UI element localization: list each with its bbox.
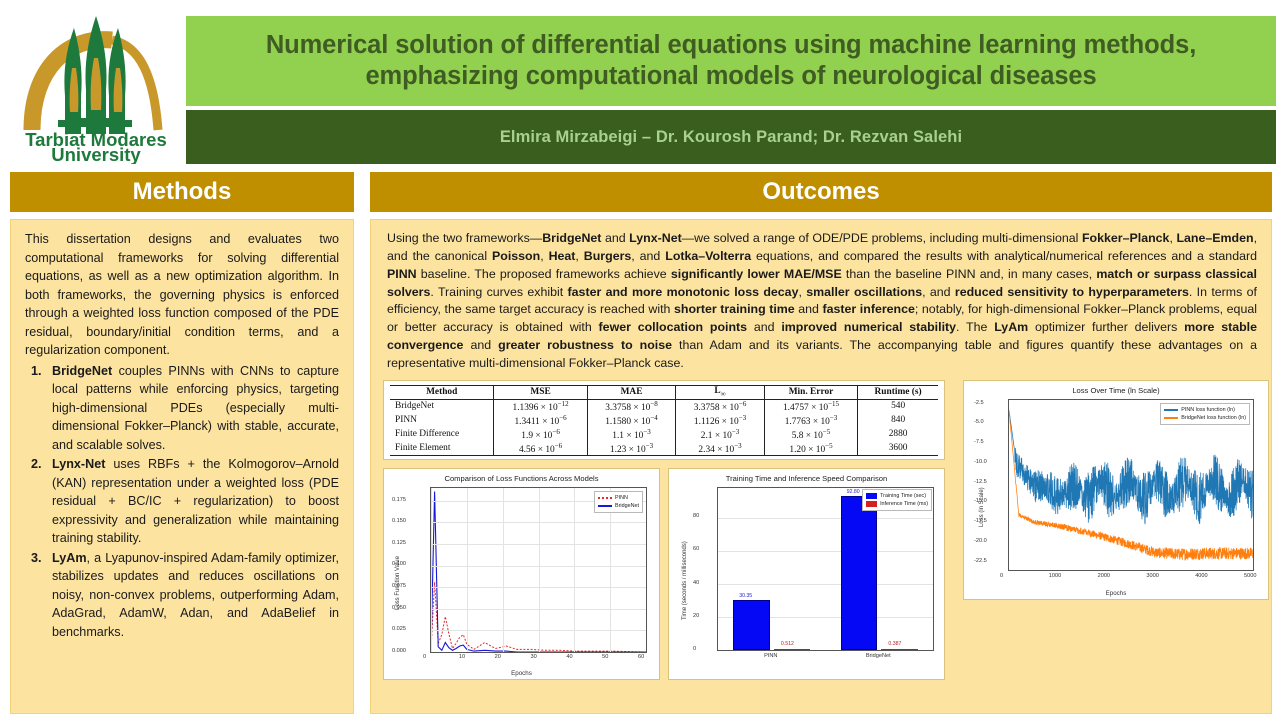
xtick-label: 40 (566, 654, 572, 660)
table-cell-minerr: 1.4757 × 10−15 (764, 399, 857, 413)
outcomes-text: and (463, 338, 498, 352)
outcomes-text: equations, and compared the results with… (751, 249, 1257, 263)
table-cell-runtime: 3600 (858, 441, 938, 455)
gridline (431, 652, 646, 653)
xtick-label: 4000 (1195, 573, 1207, 579)
outcomes-text: —we solved a range of ODE/PDE problems, … (682, 231, 1082, 245)
table-cell-mae: 1.1 × 10−3 (587, 427, 676, 441)
bar-category-label: BridgeNet (856, 653, 900, 659)
table-cell-mae: 1.1580 × 10−4 (587, 413, 676, 427)
gridline (718, 650, 933, 651)
xtick-label: 20 (495, 654, 501, 660)
ytick-label: -5.0 (974, 419, 984, 425)
methods-list-item: Lynx-Net uses RBFs + the Kolmogorov–Arno… (25, 455, 339, 548)
bar-value-label: 0.387 (888, 641, 901, 647)
outcomes-section-header: Outcomes (370, 172, 1272, 212)
methods-item-lead: BridgeNet (52, 364, 112, 378)
ytick-label: -7.5 (974, 439, 984, 445)
xtick-label: 5000 (1244, 573, 1256, 579)
outcomes-text: , and (922, 285, 955, 299)
outcomes-panel: Using the two frameworks—BridgeNet and L… (370, 219, 1272, 714)
gridline (431, 488, 432, 652)
outcomes-text: , (575, 249, 583, 263)
table-col-header: Min. Error (764, 385, 857, 399)
table-col-header: Runtime (s) (858, 385, 938, 399)
bar-training-time (841, 496, 878, 649)
table-cell-mse: 1.1396 × 10−12 (494, 399, 587, 413)
university-logo: Tarbiat Modares University (8, 6, 184, 164)
gridline (467, 488, 468, 652)
ytick-label: -15.0 (974, 498, 987, 504)
outcomes-text: , (540, 249, 548, 263)
loss-compare-xlabel: Epochs (384, 670, 659, 677)
table-col-header: L∞ (676, 385, 765, 399)
ytick-label: 0.175 (392, 497, 406, 503)
ytick-label: 0.000 (392, 648, 406, 654)
outcomes-text: . The (956, 320, 994, 334)
xtick-label: 10 (459, 654, 465, 660)
outcomes-emphasis: faster inference (823, 302, 915, 316)
table-cell-mse: 1.3411 × 10−6 (494, 413, 587, 427)
gridline (718, 584, 933, 585)
loss-over-time-chart: Loss Over Time (ln Scale) Loss (in Scale… (963, 380, 1269, 600)
ytick-label: -20.0 (974, 538, 987, 544)
poster-root: Tarbiat Modares University Numerical sol… (0, 0, 1280, 720)
bars-ylabel: Time (seconds / milliseconds) (682, 520, 688, 620)
ytick-label: 0.075 (392, 583, 406, 589)
table-cell-mse: 1.9 × 10−6 (494, 427, 587, 441)
ytick-label: 0.150 (392, 518, 406, 524)
table-row: Finite Element4.56 × 10−61.23 × 10−32.34… (390, 441, 938, 455)
outcomes-emphasis: greater robustness to noise (498, 338, 672, 352)
xtick-label: 0 (1000, 573, 1003, 579)
table-cell-method: Finite Difference (390, 427, 494, 441)
results-table-figure: MethodMSEMAEL∞Min. ErrorRuntime (s) Brid… (383, 380, 945, 460)
ytick-label: 0.100 (392, 561, 406, 567)
ytick-label: -22.5 (974, 558, 987, 564)
table-cell-runtime: 540 (858, 399, 938, 413)
legend-label-bridgenet: BridgeNet (615, 502, 639, 510)
table-cell-mae: 1.23 × 10−3 (587, 441, 676, 455)
poster-authors-bar: Elmira Mirzabeigi – Dr. Kourosh Parand; … (186, 110, 1276, 164)
ytick-label: -10.0 (974, 459, 987, 465)
loss-compare-title: Comparison of Loss Functions Across Mode… (384, 474, 659, 483)
table-cell-method: PINN (390, 413, 494, 427)
table-cell-linf: 1.1126 × 10−3 (676, 413, 765, 427)
bars-legend: Training Time (sec) Inference Time (ms) (862, 489, 932, 511)
outcomes-text: and (795, 302, 823, 316)
outcomes-text: baseline. The proposed frameworks achiev… (417, 267, 671, 281)
outcomes-emphasis: Lynx-Net (629, 231, 682, 245)
outcomes-emphasis: BridgeNet (542, 231, 601, 245)
ytick-label: 0.125 (392, 540, 406, 546)
bar-value-label: 30.35 (739, 593, 752, 599)
methods-panel: This dissertation designs and evaluates … (10, 219, 354, 714)
xtick-label: 2000 (1098, 573, 1110, 579)
outcomes-emphasis: Lotka–Volterra (665, 249, 751, 263)
figures-area: MethodMSEMAEL∞Min. ErrorRuntime (s) Brid… (383, 380, 1261, 680)
gridline (539, 488, 540, 652)
outcomes-emphasis: LyAm (994, 320, 1028, 334)
xtick-label: 30 (531, 654, 537, 660)
legend-label-inference-time: Inference Time (ms) (880, 500, 928, 508)
outcomes-emphasis: Lane–Emden (1176, 231, 1253, 245)
outcomes-text: than the baseline PINN and, in many case… (842, 267, 1097, 281)
outcomes-emphasis: faster and more monotonic loss decay (568, 285, 799, 299)
training-time-inference-speed-chart: Training Time and Inference Speed Compar… (668, 468, 945, 680)
chart-series-svg (1009, 400, 1253, 570)
outcomes-column: Outcomes Using the two frameworks—Bridge… (370, 172, 1272, 714)
ytick-label: -2.5 (974, 400, 984, 406)
table-cell-runtime: 2880 (858, 427, 938, 441)
methods-list-item: LyAm, a Lyapunov-inspired Adam-family op… (25, 549, 339, 642)
outcomes-paragraph: Using the two frameworks—BridgeNet and L… (383, 228, 1261, 373)
poster-authors: Elmira Mirzabeigi – Dr. Kourosh Parand; … (500, 128, 962, 147)
bars-title: Training Time and Inference Speed Compar… (669, 474, 944, 483)
table-cell-minerr: 5.8 × 10−5 (764, 427, 857, 441)
legend-swatch-inference-time (866, 501, 877, 507)
legend-label-pinn: PINN (615, 494, 628, 502)
tarbiat-modares-university-logo-icon: Tarbiat Modares University (8, 6, 184, 164)
outcomes-emphasis: Heat (549, 249, 576, 263)
ytick-label: 40 (693, 580, 699, 586)
outcomes-text: and (747, 320, 781, 334)
outcomes-emphasis: significantly lower MAE/MSE (671, 267, 842, 281)
outcomes-emphasis: reduced sensitivity to hyperparameters (955, 285, 1189, 299)
xtick-label: 0 (423, 654, 426, 660)
bar-category-label: PINN (749, 653, 793, 659)
outcomes-emphasis: PINN (387, 267, 417, 281)
table-cell-linf: 2.1 × 10−3 (676, 427, 765, 441)
ytick-label: 60 (693, 546, 699, 552)
loss-time-legend: PINN loss function (ln) BridgeNet loss f… (1160, 403, 1250, 425)
ytick-label: -17.5 (974, 518, 987, 524)
outcomes-emphasis: smaller oscillations (806, 285, 922, 299)
table-col-header: MAE (587, 385, 676, 399)
bars-plot-area: 30.350.51292.800.387 (717, 487, 934, 651)
loss-time-title: Loss Over Time (ln Scale) (964, 386, 1268, 395)
outcomes-emphasis: improved numerical stability (781, 320, 956, 334)
xtick-label: 1000 (1049, 573, 1061, 579)
gridline (646, 488, 647, 652)
table-cell-minerr: 1.20 × 10−5 (764, 441, 857, 455)
gridline (718, 551, 933, 552)
legend-swatch-pinn (598, 497, 612, 499)
outcomes-emphasis: shorter training time (674, 302, 795, 316)
logo-text-line2: University (51, 144, 141, 164)
table-row: Finite Difference1.9 × 10−61.1 × 10−32.1… (390, 427, 938, 441)
gridline (718, 518, 933, 519)
bar-inference-time (774, 649, 811, 650)
methods-section-header: Methods (10, 172, 354, 212)
legend-swatch-bridgenet-loss (1164, 417, 1178, 419)
outcomes-text: . Training curves exhibit (430, 285, 567, 299)
outcomes-emphasis: Burgers (584, 249, 632, 263)
results-comparison-table: MethodMSEMAEL∞Min. ErrorRuntime (s) Brid… (390, 385, 938, 456)
outcomes-emphasis: fewer collocation points (599, 320, 748, 334)
table-col-header: Method (390, 385, 494, 399)
methods-heading: Methods (133, 178, 232, 206)
table-row: PINN1.3411 × 10−61.1580 × 10−41.1126 × 1… (390, 413, 938, 427)
gridline (574, 488, 575, 652)
comparison-of-loss-functions-chart: Comparison of Loss Functions Across Mode… (383, 468, 660, 680)
table-cell-mse: 4.56 × 10−6 (494, 441, 587, 455)
bar-inference-time (881, 649, 918, 650)
methods-item-text: , a Lyapunov-inspired Adam-family optimi… (52, 551, 339, 639)
table-cell-runtime: 840 (858, 413, 938, 427)
ytick-label: 0.025 (392, 626, 406, 632)
loss-time-xlabel: Epochs (964, 590, 1268, 597)
table-cell-linf: 2.34 × 10−3 (676, 441, 765, 455)
loss-compare-legend: PINN BridgeNet (594, 491, 643, 513)
table-cell-mae: 3.3758 × 10−8 (587, 399, 676, 413)
table-cell-method: Finite Element (390, 441, 494, 455)
bar-value-label: 92.80 (847, 489, 860, 495)
table-header-row: MethodMSEMAEL∞Min. ErrorRuntime (s) (390, 385, 938, 399)
table-cell-linf: 3.3758 × 10−6 (676, 399, 765, 413)
methods-item-lead: Lynx-Net (52, 457, 105, 471)
bar-value-label: 0.512 (781, 641, 794, 647)
methods-column: Methods This dissertation designs and ev… (10, 172, 354, 714)
legend-label-training-time: Training Time (sec) (880, 492, 926, 500)
methods-list: BridgeNet couples PINNs with CNNs to cap… (25, 362, 339, 642)
outcomes-text: Using the two frameworks— (387, 231, 542, 245)
legend-label-bridgenet-loss: BridgeNet loss function (ln) (1181, 414, 1246, 422)
outcomes-emphasis: Poisson (492, 249, 540, 263)
table-row: BridgeNet1.1396 × 10−123.3758 × 10−83.37… (390, 399, 938, 413)
gridline (503, 488, 504, 652)
ytick-label: 0.050 (392, 605, 406, 611)
table-col-header: MSE (494, 385, 587, 399)
poster-title-bar: Numerical solution of differential equat… (186, 16, 1276, 106)
methods-item-lead: LyAm (52, 551, 87, 565)
ytick-label: 20 (693, 613, 699, 619)
table-cell-minerr: 1.7763 × 10−3 (764, 413, 857, 427)
outcomes-text: and (601, 231, 629, 245)
outcomes-text: optimizer further delivers (1028, 320, 1184, 334)
ytick-label: 80 (693, 513, 699, 519)
table-cell-method: BridgeNet (390, 399, 494, 413)
legend-label-pinn-loss: PINN loss function (ln) (1181, 406, 1235, 414)
xtick-label: 60 (638, 654, 644, 660)
xtick-label: 3000 (1146, 573, 1158, 579)
poster-header: Tarbiat Modares University Numerical sol… (0, 0, 1280, 166)
poster-title: Numerical solution of differential equat… (204, 30, 1258, 92)
bar-training-time (733, 600, 770, 650)
methods-list-item: BridgeNet couples PINNs with CNNs to cap… (25, 362, 339, 455)
legend-swatch-pinn-loss (1164, 409, 1178, 411)
legend-swatch-bridgenet (598, 505, 612, 507)
ytick-label: -12.5 (974, 479, 987, 485)
outcomes-emphasis: Fokker–Planck (1082, 231, 1169, 245)
outcomes-text: , and (631, 249, 665, 263)
methods-intro-paragraph: This dissertation designs and evaluates … (25, 230, 339, 360)
ytick-label: 0 (693, 646, 696, 652)
xtick-label: 50 (602, 654, 608, 660)
outcomes-heading: Outcomes (762, 178, 879, 206)
legend-swatch-training-time (866, 493, 877, 499)
